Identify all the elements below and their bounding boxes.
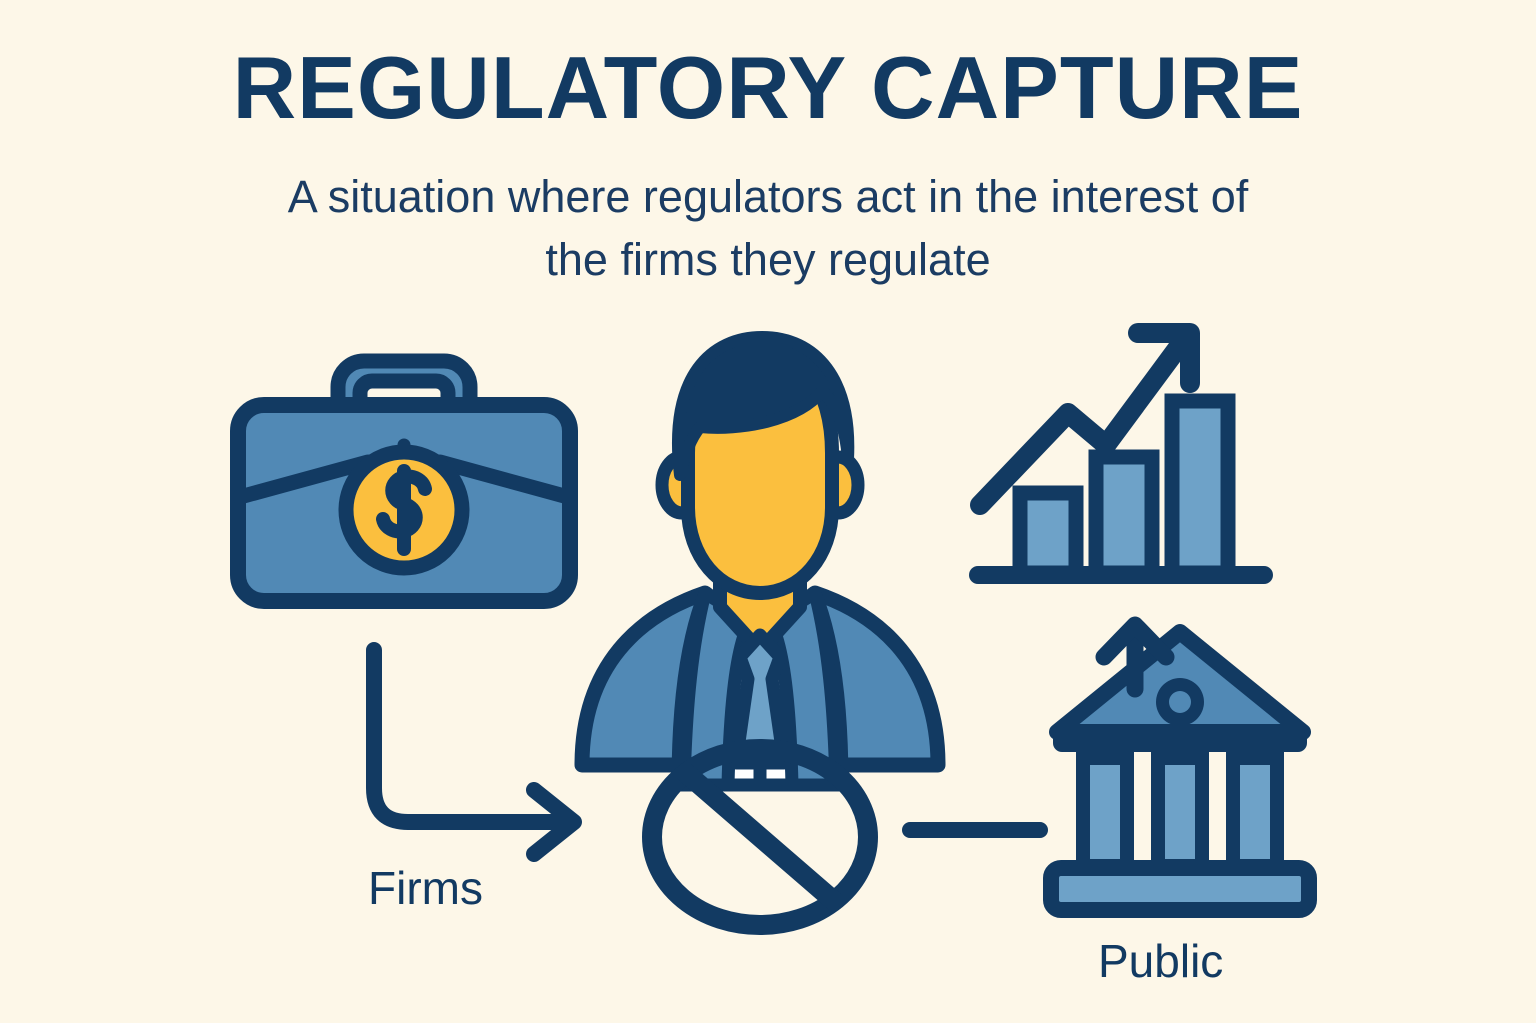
growth-bar-chart-icon bbox=[968, 305, 1278, 595]
briefcase-money-icon bbox=[228, 325, 580, 620]
regulator-person-icon bbox=[560, 335, 960, 785]
prohibition-icon bbox=[640, 745, 880, 930]
page-subtitle: A situation where regulators act in the … bbox=[268, 165, 1268, 291]
elbow-arrow-right-icon bbox=[362, 638, 602, 868]
connector-line-icon bbox=[900, 820, 1050, 840]
infographic-canvas: REGULATORY CAPTURE A situation where reg… bbox=[0, 0, 1536, 1023]
government-building-icon bbox=[1045, 610, 1315, 920]
arrow-up-icon bbox=[1090, 615, 1180, 695]
label-public: Public bbox=[1098, 934, 1223, 988]
page-title: REGULATORY CAPTURE bbox=[0, 44, 1536, 132]
label-firms: Firms bbox=[368, 861, 483, 915]
